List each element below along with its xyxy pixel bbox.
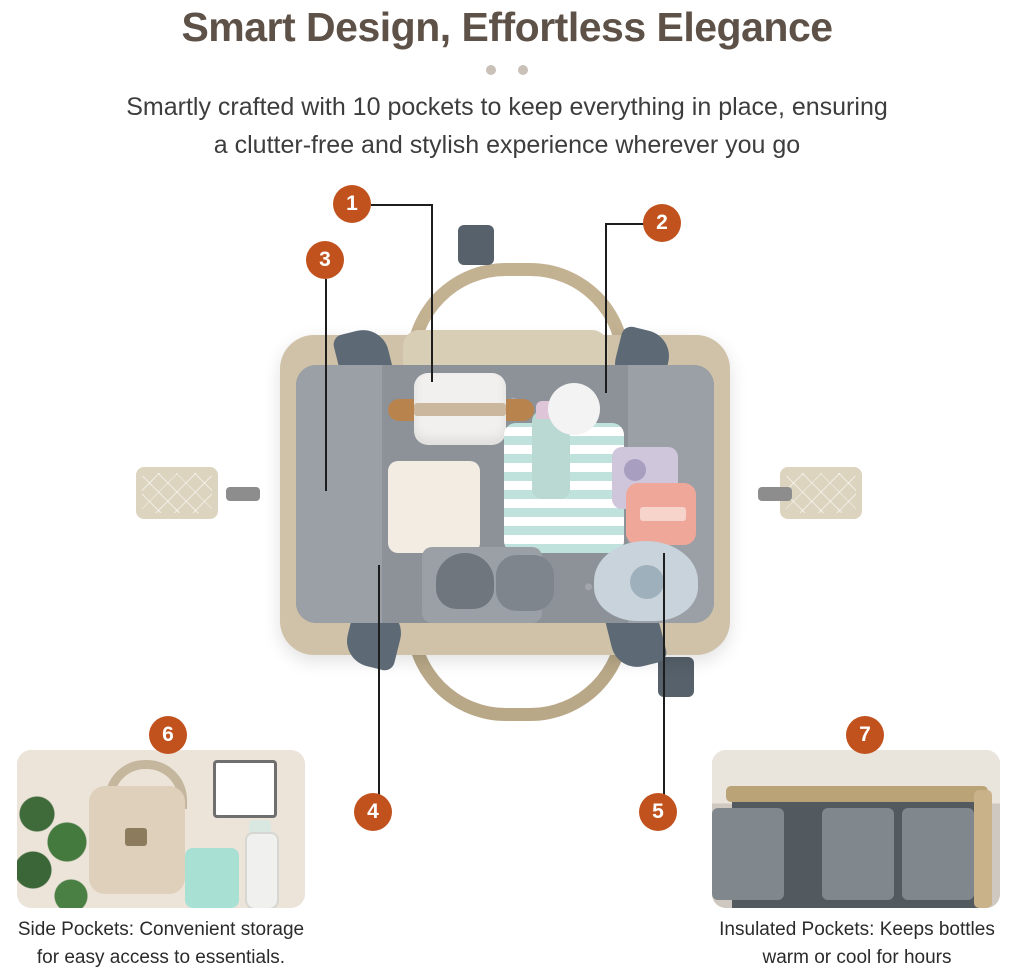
callout-badge-7[interactable]: 7 (846, 716, 884, 754)
diaper-backpack-image (218, 205, 798, 725)
quilt-texture-right (786, 473, 856, 513)
callout-badge-6[interactable]: 6 (149, 716, 187, 754)
quilt-texture-left (142, 473, 212, 513)
side-pockets-caption-line-1: Side Pockets: Convenient storage (0, 916, 326, 944)
callout-badge-5[interactable]: 5 (639, 793, 677, 831)
side-pockets-card[interactable] (17, 750, 305, 908)
insulated-pocket-1 (712, 808, 784, 900)
insulated-pocket-3 (902, 808, 974, 900)
leader-line-1-vertical (431, 204, 433, 382)
leader-line-3-vertical (325, 279, 327, 491)
zipper-pull-left (226, 487, 260, 501)
white-ball-toy (548, 383, 600, 435)
leader-line-5-vertical (663, 553, 665, 795)
page-subtitle: Smartly crafted with 10 pockets to keep … (0, 88, 1014, 164)
side-pocket-right (780, 467, 862, 519)
insulated-side-trim (974, 790, 992, 908)
page-title: Smart Design, Effortless Elegance (0, 2, 1014, 52)
insulated-pockets-card[interactable] (712, 750, 1000, 908)
callout-badge-3[interactable]: 3 (306, 241, 344, 279)
product-photo: 1 2 3 4 5 (0, 175, 1014, 735)
interior-pouch-secondary (496, 555, 554, 611)
toy-camera-label (640, 507, 686, 521)
mint-side-pouch (185, 848, 239, 908)
strap-tab-top (458, 225, 494, 265)
baby-links-toy (408, 437, 508, 547)
leader-line-4-vertical (378, 565, 380, 795)
callout-badge-2[interactable]: 2 (643, 204, 681, 242)
subtitle-line-1: Smartly crafted with 10 pockets to keep … (0, 88, 1014, 126)
lining-left (296, 365, 382, 623)
interior-pouch-dark (436, 553, 494, 609)
insulated-pocket-2 (822, 808, 894, 900)
zipper-pull-right (758, 487, 792, 501)
insulated-flap (726, 786, 988, 802)
insulated-pockets-caption: Insulated Pockets: Keeps bottles warm or… (692, 916, 1014, 972)
bag-logo-patch (125, 828, 147, 846)
side-pocket-left (136, 467, 218, 519)
plant-leaves (17, 794, 95, 908)
side-bottle (245, 832, 279, 908)
side-pockets-caption-line-2: for easy access to essentials. (0, 944, 326, 972)
grey-bowl-knob (630, 565, 664, 599)
callout-badge-1[interactable]: 1 (333, 185, 371, 223)
callout-badge-4[interactable]: 4 (354, 793, 392, 831)
subtitle-line-2: a clutter-free and stylish experience wh… (0, 126, 1014, 164)
dot-1 (486, 65, 496, 75)
insulated-pockets-caption-line-1: Insulated Pockets: Keeps bottles (692, 916, 1014, 944)
leader-line-1-horizontal (371, 204, 433, 206)
leader-line-2-vertical (605, 223, 607, 393)
insulated-pockets-caption-line-2: warm or cool for hours (692, 944, 1014, 972)
decorative-dots (0, 62, 1014, 76)
wall-frame (213, 760, 277, 818)
bag-interior (296, 365, 714, 623)
formula-jar-band (414, 403, 506, 416)
side-pockets-caption: Side Pockets: Convenient storage for eas… (0, 916, 326, 972)
dot-2 (518, 65, 528, 75)
